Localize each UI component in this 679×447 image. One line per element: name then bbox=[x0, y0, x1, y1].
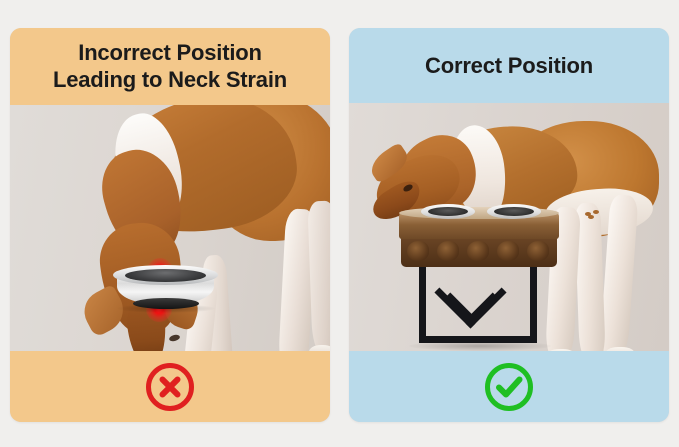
feeder-bowl-left bbox=[421, 204, 475, 219]
panel-correct-title-line1: Correct Position bbox=[349, 52, 669, 79]
base-bar-bottom bbox=[419, 336, 537, 343]
cross-circle-icon bbox=[144, 361, 196, 413]
carved-floral-motif bbox=[467, 241, 489, 261]
panel-incorrect-header: Incorrect Position Leading to Neck Strai… bbox=[10, 28, 330, 105]
dog-paw-hind-near bbox=[309, 345, 330, 351]
panel-correct-position: Correct Position bbox=[349, 28, 669, 422]
elevated-dog-feeder-stand bbox=[399, 201, 559, 351]
panel-incorrect-title-line1: Incorrect Position bbox=[10, 39, 330, 66]
kibble-piece bbox=[593, 210, 599, 214]
feeder-bowl-right bbox=[487, 204, 541, 219]
panel-incorrect-position: Incorrect Position Leading to Neck Strai… bbox=[10, 28, 330, 422]
dog-eating-elevated-feeder-illustration bbox=[349, 103, 669, 351]
dog-eating-floor-bowl-illustration bbox=[10, 105, 330, 351]
kibble-piece bbox=[588, 215, 594, 219]
photo-incorrect-position bbox=[10, 105, 330, 351]
carved-floral-motif bbox=[527, 241, 549, 261]
bowl-rubber-base bbox=[133, 298, 199, 309]
carved-floral-motif bbox=[407, 241, 429, 261]
dog-hind-leg-near bbox=[307, 201, 330, 351]
base-bar-left bbox=[419, 263, 426, 343]
bowl-interior bbox=[428, 207, 468, 216]
panel-correct-header: Correct Position bbox=[349, 28, 669, 103]
panel-incorrect-title-line2: Leading to Neck Strain bbox=[10, 66, 330, 93]
comparison-board: Incorrect Position Leading to Neck Strai… bbox=[0, 0, 679, 447]
check-circle-icon bbox=[483, 361, 535, 413]
dog-eye bbox=[168, 334, 180, 343]
base-bar-right bbox=[530, 263, 537, 343]
photo-correct-position bbox=[349, 103, 669, 351]
panel-incorrect-footer bbox=[10, 351, 330, 422]
bowl-interior bbox=[494, 207, 534, 216]
carved-floral-motif bbox=[437, 241, 459, 261]
bowl-interior bbox=[125, 269, 206, 282]
dog-paw-rear-far bbox=[605, 347, 635, 351]
feeder-metal-base bbox=[419, 263, 537, 343]
carved-floral-motif bbox=[497, 241, 519, 261]
floor-level-dog-bowl bbox=[113, 265, 218, 313]
panel-correct-footer bbox=[349, 351, 669, 422]
